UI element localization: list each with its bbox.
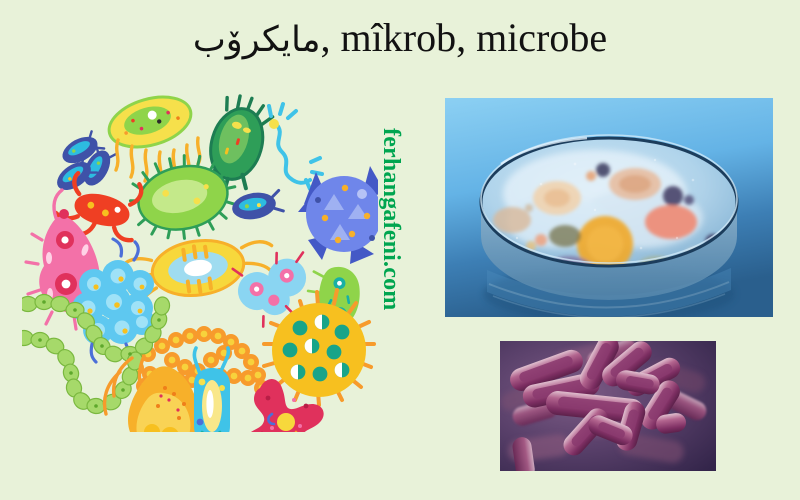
colony	[684, 195, 694, 205]
colony	[525, 204, 533, 212]
microbe-cluster-illustration	[22, 88, 378, 432]
bacteria-micrograph-photo	[500, 341, 716, 471]
site-watermark: ferhangafeni.com	[376, 128, 406, 380]
colony	[586, 171, 596, 181]
colony	[493, 207, 531, 233]
title-separator-1: ,	[321, 15, 341, 60]
colony	[535, 234, 547, 246]
title-english: microbe	[476, 15, 607, 60]
colony	[596, 163, 610, 177]
title-transliteration: mîkrob	[341, 15, 457, 60]
title-kurdish: مایکرۆب	[193, 20, 321, 60]
petri-dish-photo	[445, 98, 773, 317]
colony	[549, 225, 581, 247]
squiggle-spirillum-cyan-icon	[269, 104, 322, 189]
page-title: مایکرۆب, mîkrob, microbe	[0, 14, 800, 64]
colony	[663, 186, 683, 206]
small-blue-capsule-icon	[230, 188, 284, 222]
squiggle-head-icon	[269, 119, 279, 129]
blue-oval-trio-icon	[52, 130, 116, 196]
colony	[645, 205, 697, 239]
page-root: مایکرۆب, mîkrob, microbe ferhangafeni.co…	[0, 0, 800, 500]
title-separator-2: ,	[456, 15, 476, 60]
